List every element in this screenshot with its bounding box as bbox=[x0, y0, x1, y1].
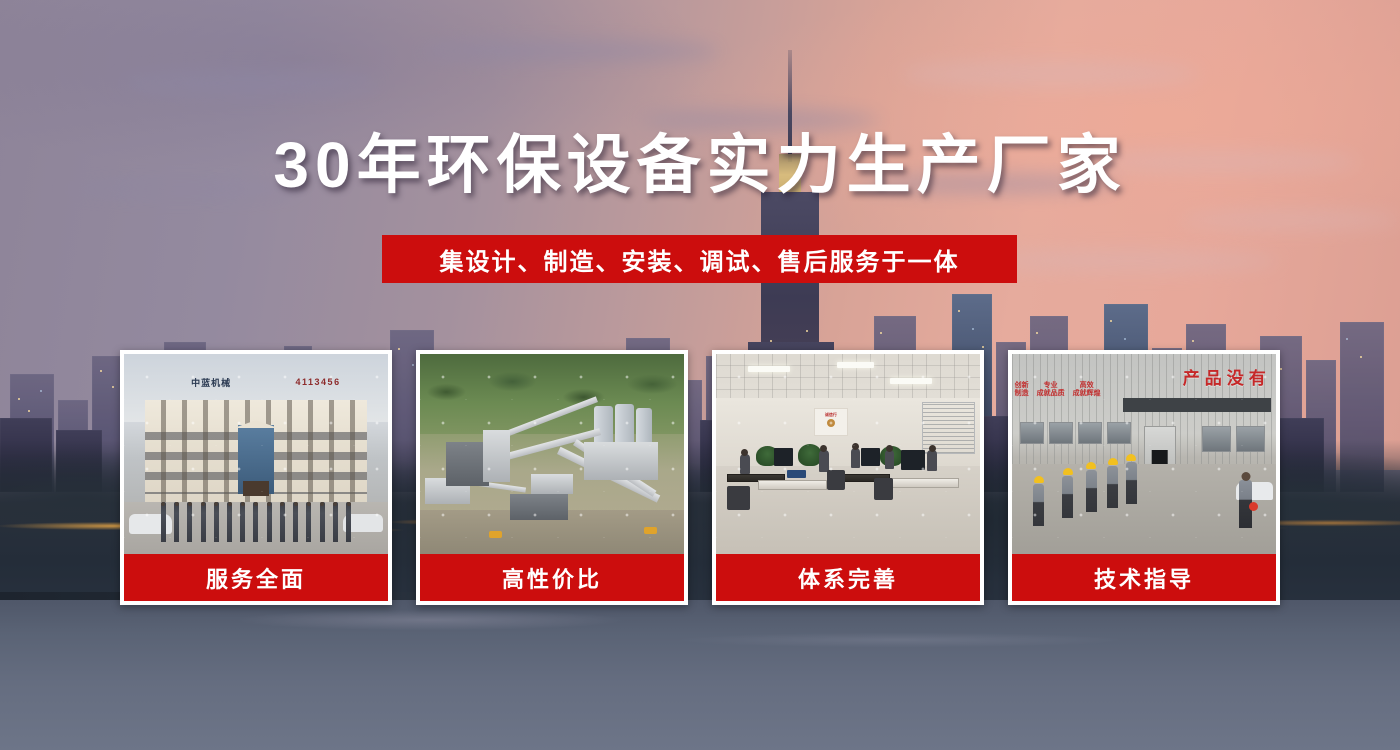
office-interior-photo: 诚信行 bbox=[716, 354, 980, 554]
building-phone-text: 4113456 bbox=[275, 374, 362, 390]
feature-card[interactable]: 产品没有 创新制造 专业成就品质 高效成就辉煌 bbox=[1008, 350, 1280, 605]
water-reflection bbox=[0, 600, 1400, 750]
card-caption: 体系完善 bbox=[716, 554, 980, 601]
subtitle-banner: 集设计、制造、安装、调试、售后服务于一体 bbox=[382, 235, 1017, 283]
page-title: 30年环保设备实力生产厂家 bbox=[0, 132, 1400, 199]
technical-training-photo: 产品没有 创新制造 专业成就品质 高效成就辉煌 bbox=[1012, 354, 1276, 554]
production-plant-aerial-photo bbox=[420, 354, 684, 554]
feature-card[interactable]: 高性价比 bbox=[416, 350, 688, 605]
feature-card-row: 中蓝机械 4113456 服务全面 bbox=[120, 350, 1280, 605]
promo-banner: 30年环保设备实力生产厂家 集设计、制造、安装、调试、售后服务于一体 中蓝机械 bbox=[0, 0, 1400, 750]
feature-card[interactable]: 中蓝机械 4113456 服务全面 bbox=[120, 350, 392, 605]
factory-slogan-signs: 创新制造 专业成就品质 高效成就辉煌 bbox=[1015, 378, 1136, 402]
feature-card[interactable]: 诚信行 bbox=[712, 350, 984, 605]
card-caption: 技术指导 bbox=[1012, 554, 1276, 601]
company-headquarters-photo: 中蓝机械 4113456 bbox=[124, 354, 388, 554]
card-caption: 高性价比 bbox=[420, 554, 684, 601]
card-caption: 服务全面 bbox=[124, 554, 388, 601]
building-sign-text: 中蓝机械 bbox=[172, 374, 251, 390]
subtitle-text: 集设计、制造、安装、调试、售后服务于一体 bbox=[440, 242, 960, 277]
factory-wall-sign: 产品没有 bbox=[1133, 360, 1270, 392]
